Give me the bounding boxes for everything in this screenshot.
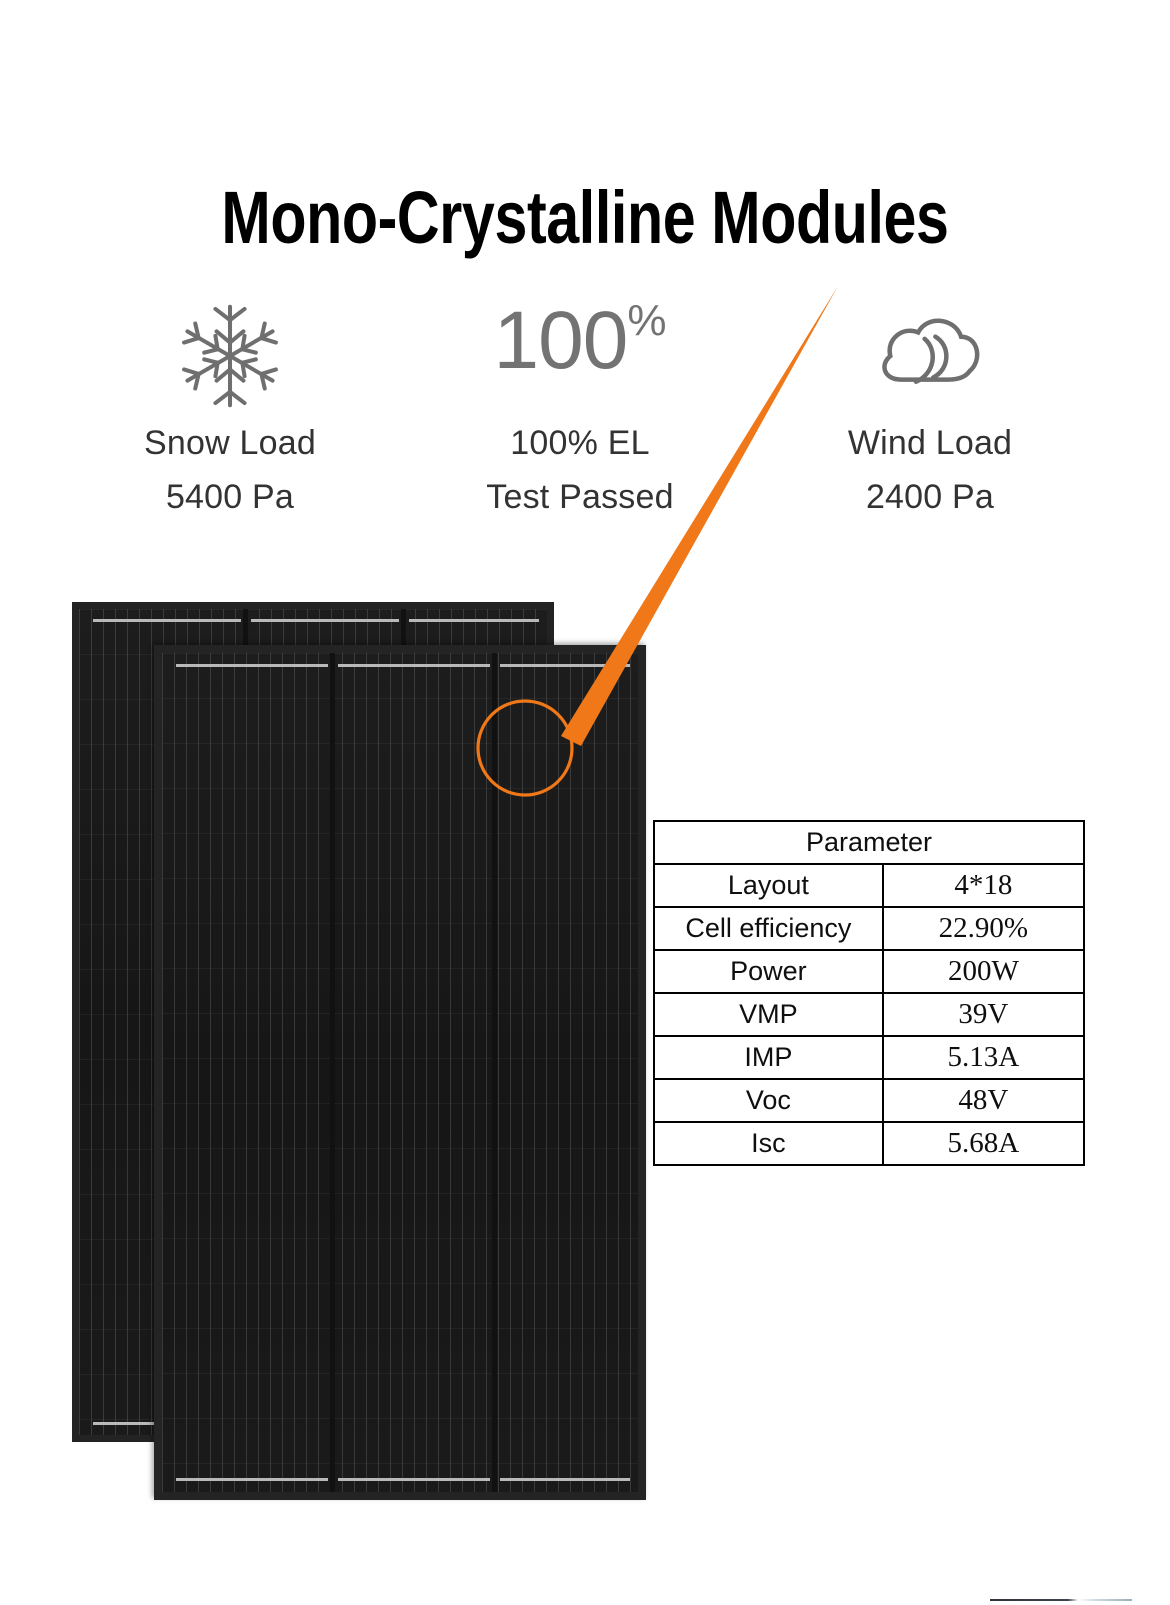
param-value: 22.90% <box>883 907 1084 950</box>
cloud-wind-icon <box>871 296 989 416</box>
busbar <box>409 619 539 622</box>
param-key: Isc <box>654 1122 883 1165</box>
busbar <box>338 664 490 667</box>
param-key: Voc <box>654 1079 883 1122</box>
feature-label-line2: 2400 Pa <box>866 470 994 524</box>
page-title: Mono-Crystalline Modules <box>117 176 1053 260</box>
feature-snow-load: Snow Load 5400 Pa <box>70 296 390 524</box>
infographic-page: Mono-Crystalline Modules <box>0 0 1170 1605</box>
param-value: 5.13A <box>883 1036 1084 1079</box>
feature-label-line1: Wind Load <box>848 416 1012 470</box>
snowflake-icon <box>174 296 286 416</box>
param-key: Power <box>654 950 883 993</box>
percent-value: 100 <box>494 296 628 386</box>
param-value: 200W <box>883 950 1084 993</box>
param-value: 48V <box>883 1079 1084 1122</box>
percent-100-icon: 100% <box>494 296 667 416</box>
feature-label-line1: 100% EL <box>510 416 649 470</box>
param-key: Cell efficiency <box>654 907 883 950</box>
param-value: 39V <box>883 993 1084 1036</box>
parameter-table: Parameter Layout 4*18 Cell efficiency 22… <box>653 820 1085 1166</box>
param-value: 5.68A <box>883 1122 1084 1165</box>
busbar <box>176 1478 328 1481</box>
busbar <box>338 1478 490 1481</box>
panel-surface <box>162 653 638 1492</box>
table-row: Power 200W <box>654 950 1084 993</box>
param-key: IMP <box>654 1036 883 1079</box>
busbar <box>500 664 630 667</box>
table-header-row: Parameter <box>654 821 1084 864</box>
cell-gap <box>330 653 335 1492</box>
busbar <box>93 619 241 622</box>
feature-label-line2: 5400 Pa <box>166 470 294 524</box>
param-key: VMP <box>654 993 883 1036</box>
busbar <box>176 664 328 667</box>
feature-label-line2: Test Passed <box>486 470 673 524</box>
table-row: Layout 4*18 <box>654 864 1084 907</box>
solar-panel-front <box>154 645 646 1500</box>
table-row: VMP 39V <box>654 993 1084 1036</box>
feature-row: Snow Load 5400 Pa 100% 100% EL Test Pass… <box>70 296 1090 546</box>
param-key: Layout <box>654 864 883 907</box>
cell-gap <box>492 653 497 1492</box>
param-value: 4*18 <box>883 864 1084 907</box>
busbar <box>500 1478 630 1481</box>
table-header-cell: Parameter <box>654 821 1084 864</box>
table-row: Voc 48V <box>654 1079 1084 1122</box>
table-row: Isc 5.68A <box>654 1122 1084 1165</box>
feature-wind-load: Wind Load 2400 Pa <box>770 296 1090 524</box>
percent-unit: % <box>627 296 666 346</box>
parameter-table-body: Parameter Layout 4*18 Cell efficiency 22… <box>654 821 1084 1165</box>
table-row: Cell efficiency 22.90% <box>654 907 1084 950</box>
feature-label-line1: Snow Load <box>144 416 316 470</box>
table-row: IMP 5.13A <box>654 1036 1084 1079</box>
busbar <box>251 619 399 622</box>
feature-el-test: 100% 100% EL Test Passed <box>420 296 740 524</box>
bottom-edge-artifact <box>990 1599 1132 1601</box>
